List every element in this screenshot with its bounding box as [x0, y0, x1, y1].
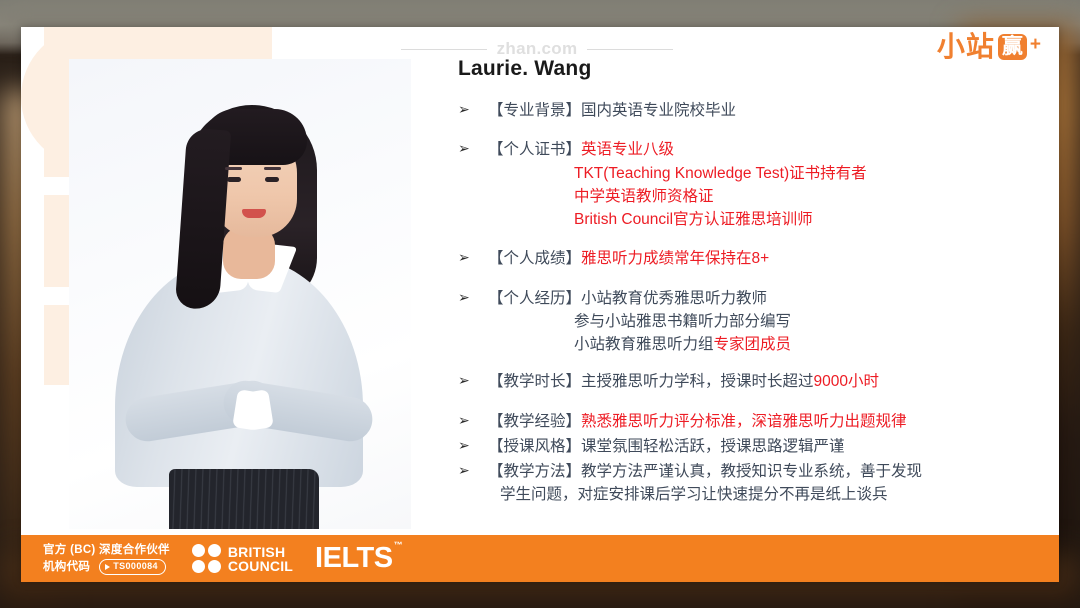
bc-dot-1 [192, 544, 205, 557]
org-code-badge: TS000084 [99, 559, 166, 575]
bullet-text: TKT(Teaching Knowledge Test)证书持有者 [574, 165, 867, 182]
bullet-arrow-icon: ➢ [458, 99, 488, 121]
portrait-shirt [115, 257, 363, 487]
ielts-trademark: ™ [394, 540, 403, 550]
bullet-continuation-line: 参与小站雅思书籍听力部分编写 [488, 310, 1038, 333]
bullet-label: 【专业背景】 [488, 102, 581, 119]
page-title: Laurie. Wang [458, 57, 591, 81]
bullet-label: 【教学时长】 [488, 373, 581, 390]
bullet-first-line: 【教学时长】主授雅思听力学科，授课时长超过9000小时 [488, 373, 879, 390]
bullet-arrow-icon: ➢ [458, 247, 488, 269]
bullet-text: 课堂氛围轻松活跃，授课思路逻辑严谨 [581, 438, 845, 455]
portrait-mouth [242, 209, 266, 218]
bullet-first-line: 【个人证书】英语专业八级 [488, 141, 674, 158]
bullet-text: 学生问题，对症安排课后学习让快速提分不再是纸上谈兵 [500, 486, 888, 503]
british-council-dots-icon [192, 544, 221, 573]
background-wall [0, 0, 1080, 30]
bullet-text: 参与小站雅思书籍听力部分编写 [574, 313, 791, 330]
org-code-value: TS000084 [113, 560, 158, 573]
british-council-wordmark: BRITISH COUNCIL [228, 545, 293, 573]
portrait-brow-left [225, 167, 242, 170]
watermark-text: zhan.com [497, 39, 578, 59]
bullet-arrow-icon: ➢ [458, 287, 488, 309]
bullet-continuation-line: 中学英语教师资格证 [488, 185, 1038, 208]
bullet-first-line: 【教学经验】熟悉雅思听力评分标准，深谙雅思听力出题规律 [488, 413, 907, 430]
bullet-continuation-line: 小站教育雅思听力组专家团成员 [488, 333, 1038, 356]
bullet-arrow-icon: ➢ [458, 435, 488, 457]
brand-plus-icon: + [1030, 35, 1041, 54]
portrait-eye-left [227, 177, 241, 182]
brand-logo[interactable]: 小站 赢 + [937, 33, 1041, 61]
bullet-body: 【教学方法】教学方法严谨认真，教授知识专业系统，善于发现学生问题，对症安排课后学… [488, 460, 1038, 507]
bullet-text: 国内英语专业院校毕业 [581, 102, 736, 119]
british-council-line2: COUNCIL [228, 558, 293, 574]
portrait-skirt [169, 469, 319, 529]
bullet-text-highlight: 9000小时 [814, 373, 879, 390]
ielts-wordmark: IELTS [315, 542, 393, 574]
bullet-text: 小站教育雅思听力组 [574, 336, 714, 353]
ielts-logo: IELTS ™ [315, 542, 393, 575]
instructor-photo [69, 59, 411, 529]
bullet-text: 教学方法严谨认真，教授知识专业系统，善于发现 [581, 463, 922, 480]
bullet-first-line: 【授课风格】课堂氛围轻松活跃，授课思路逻辑严谨 [488, 438, 845, 455]
bullet-row: ➢【教学方法】教学方法严谨认真，教授知识专业系统，善于发现学生问题，对症安排课后… [458, 460, 1038, 507]
bullet-text: British Council官方认证雅思培训师 [574, 211, 813, 228]
bullet-first-line: 【专业背景】国内英语专业院校毕业 [488, 102, 736, 119]
bullet-row: ➢【教学经验】熟悉雅思听力评分标准，深谙雅思听力出题规律 [458, 410, 1038, 433]
bullet-arrow-icon: ➢ [458, 410, 488, 432]
bullet-text: 小站教育优秀雅思听力教师 [581, 290, 767, 307]
bullet-label: 【授课风格】 [488, 438, 581, 455]
bullet-text: 英语专业八级 [581, 141, 674, 158]
slide-canvas: zhan.com Laurie. Wang 小站 赢 + ➢【专业背景】国内英语… [21, 27, 1059, 582]
bullet-text: 熟悉雅思听力评分标准，深谙雅思听力出题规律 [581, 413, 907, 430]
bullet-row: ➢【个人经历】小站教育优秀雅思听力教师参与小站雅思书籍听力部分编写小站教育雅思听… [458, 287, 1038, 357]
bc-dot-2 [208, 544, 221, 557]
bullet-row: ➢【教学时长】主授雅思听力学科，授课时长超过9000小时 [458, 370, 1038, 393]
bullet-label: 【教学方法】 [488, 463, 581, 480]
portrait-brow-right [264, 167, 281, 170]
watermark-rule-left [401, 49, 487, 50]
bullet-text-highlight: 专家团成员 [714, 336, 792, 353]
bullet-row: ➢【授课风格】课堂氛围轻松活跃，授课思路逻辑严谨 [458, 435, 1038, 458]
bullet-body: 【授课风格】课堂氛围轻松活跃，授课思路逻辑严谨 [488, 435, 1038, 458]
bullet-text: 中学英语教师资格证 [574, 188, 714, 205]
bullet-row: ➢【个人成绩】雅思听力成绩常年保持在8+ [458, 247, 1038, 270]
footer-code-row: 机构代码 TS000084 [43, 559, 170, 576]
watermark-rule-right [587, 49, 673, 50]
bullet-body: 【个人经历】小站教育优秀雅思听力教师参与小站雅思书籍听力部分编写小站教育雅思听力… [488, 287, 1038, 357]
bullet-text: 主授雅思听力学科，授课时长超过 [581, 373, 814, 390]
bullet-first-line: 【教学方法】教学方法严谨认真，教授知识专业系统，善于发现 [488, 463, 922, 480]
footer-bar: 官方 (BC) 深度合作伙伴 机构代码 TS000084 BRITISH COU… [21, 535, 1059, 582]
bullet-label: 【个人经历】 [488, 290, 581, 307]
bullet-label: 【教学经验】 [488, 413, 581, 430]
bullet-continuation-line: TKT(Teaching Knowledge Test)证书持有者 [488, 162, 1038, 185]
brand-wordmark: 小站 [937, 33, 995, 61]
bullet-first-line: 【个人经历】小站教育优秀雅思听力教师 [488, 290, 767, 307]
play-icon [105, 564, 110, 570]
brand-badge: 赢 [998, 34, 1027, 60]
british-council-logo: BRITISH COUNCIL [192, 544, 293, 573]
footer-partner-block: 官方 (BC) 深度合作伙伴 机构代码 TS000084 [43, 542, 170, 575]
bc-dot-4 [208, 560, 221, 573]
bullet-continuation-line: 学生问题，对症安排课后学习让快速提分不再是纸上谈兵 [488, 483, 1038, 506]
bullet-continuation-line: British Council官方认证雅思培训师 [488, 208, 1038, 231]
bullet-label: 【个人证书】 [488, 141, 581, 158]
bullet-row: ➢【专业背景】国内英语专业院校毕业 [458, 99, 1038, 122]
bullet-body: 【教学经验】熟悉雅思听力评分标准，深谙雅思听力出题规律 [488, 410, 1038, 433]
bullet-body: 【个人成绩】雅思听力成绩常年保持在8+ [488, 247, 1038, 270]
bullet-body: 【教学时长】主授雅思听力学科，授课时长超过9000小时 [488, 370, 1038, 393]
bullet-text: 雅思听力成绩常年保持在8+ [581, 250, 769, 267]
bullet-label: 【个人成绩】 [488, 250, 581, 267]
bc-dot-3 [192, 560, 205, 573]
bullet-body: 【专业背景】国内英语专业院校毕业 [488, 99, 1038, 122]
bullet-arrow-icon: ➢ [458, 370, 488, 392]
bullet-list: ➢【专业背景】国内英语专业院校毕业➢【个人证书】英语专业八级TKT(Teachi… [458, 99, 1038, 507]
bullet-body: 【个人证书】英语专业八级TKT(Teaching Knowledge Test)… [488, 138, 1038, 231]
org-code-label: 机构代码 [43, 559, 90, 576]
bullet-arrow-icon: ➢ [458, 138, 488, 160]
bullet-first-line: 【个人成绩】雅思听力成绩常年保持在8+ [488, 250, 769, 267]
bullet-row: ➢【个人证书】英语专业八级TKT(Teaching Knowledge Test… [458, 138, 1038, 231]
portrait-eye-right [265, 177, 279, 182]
footer-partner-line: 官方 (BC) 深度合作伙伴 [43, 542, 170, 559]
bullet-arrow-icon: ➢ [458, 460, 488, 482]
